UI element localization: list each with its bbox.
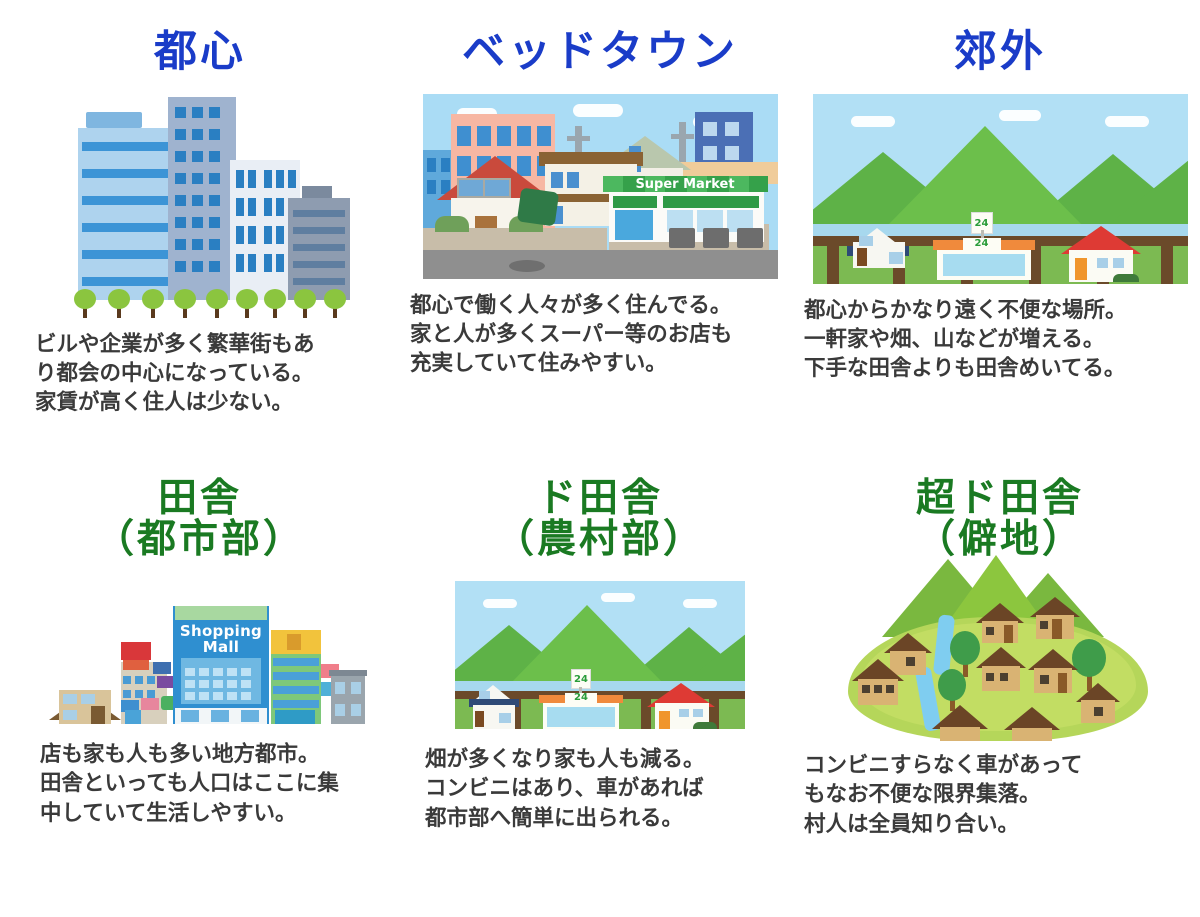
tree-icon — [206, 288, 228, 318]
conbini-sign-text: 24 — [963, 238, 1001, 249]
panel-title-inaka-toshibu: 田舎 （都市部） — [95, 478, 305, 561]
illustration-farm-village-with-conbini: 24 24 — [455, 581, 745, 729]
thatched-house — [976, 647, 1026, 693]
conbini-pole-sign-text: 24 — [971, 218, 993, 229]
panel-do-inaka-noson: ド田舎 （農村部） — [400, 470, 800, 917]
tree-icon — [142, 288, 164, 318]
tree-icon — [294, 288, 316, 318]
tree-icon — [74, 288, 96, 318]
row-urban: 都心 — [0, 0, 1200, 470]
illustration-city-buildings — [50, 90, 350, 318]
panel-cho-do-inaka-hekichi: 超ド田舎 （僻地） — [800, 470, 1200, 917]
panel-caption-bed-town: 都心で働く人々が多く住んでる。 家と人が多くスーパー等のお店も 充実していて住み… — [410, 291, 790, 379]
panel-title-cho-do-inaka-hekichi: 超ド田舎 （僻地） — [916, 478, 1084, 561]
panel-caption-kogai: 都心からかなり遠く不便な場所。 一軒家や畑、山などが増える。 下手な田舎よりも田… — [804, 296, 1196, 384]
shopping-cart-icon — [703, 228, 729, 248]
tree-icon — [108, 288, 130, 318]
illustration-shopping-mall: Shopping Mall — [35, 579, 365, 724]
panel-bed-town: ベッドタウン — [400, 0, 800, 470]
thatched-house — [976, 603, 1024, 645]
supermarket-sign-text: Super Market — [603, 177, 768, 192]
panel-toshin: 都心 — [0, 0, 400, 470]
shopping-cart-icon — [669, 228, 695, 248]
panel-title-bed-town: ベッドタウン — [462, 30, 738, 76]
panel-caption-cho-do-inaka-hekichi: コンビニすらなく車があって もなお不便な限界集落。 村人は全員知り合い。 — [804, 751, 1196, 839]
row-rural: 田舎 （都市部） — [0, 470, 1200, 917]
tree-icon — [174, 288, 196, 318]
illustration-remote-mountain-village — [840, 555, 1160, 745]
panel-title-kogai: 郊外 — [954, 30, 1046, 76]
thatched-house — [932, 705, 988, 741]
panel-inaka-toshibu: 田舎 （都市部） — [0, 470, 400, 917]
illustration-suburban-street: Super Market — [423, 94, 778, 279]
panel-title-do-inaka-noson: ド田舎 （農村部） — [495, 478, 705, 561]
thatched-house — [852, 659, 904, 707]
thatched-house — [1030, 597, 1080, 641]
illustration-countryside-with-conbini: 24 24 — [813, 94, 1188, 284]
panel-caption-toshin: ビルや企業が多く繁華街もあ り都会の中心になっている。 家賃が高く住人は少ない。 — [35, 330, 365, 418]
tree-icon — [236, 288, 258, 318]
thatched-house — [1076, 683, 1120, 725]
conbini-sign-text: 24 — [565, 692, 597, 703]
tree-icon — [264, 288, 286, 318]
panel-title-toshin: 都心 — [154, 30, 246, 76]
thatched-house — [1004, 707, 1060, 741]
thatched-house — [1028, 649, 1078, 695]
shopping-cart-icon — [737, 228, 763, 248]
panel-caption-do-inaka-noson: 畑が多くなり家も人も減る。 コンビニはあり、車があれば 都市部へ簡単に出られる。 — [425, 745, 775, 833]
conbini-pole-sign-text: 24 — [571, 674, 591, 685]
tree-icon — [324, 288, 346, 318]
infographic-board: 都心 — [0, 0, 1200, 917]
mall-sign-text: Shopping Mall — [173, 624, 269, 656]
panel-kogai: 郊外 — [800, 0, 1200, 470]
panel-caption-inaka-toshibu: 店も家も人も多い地方都市。 田舎といっても人口はここに集 中していて生活しやすい… — [40, 740, 360, 828]
